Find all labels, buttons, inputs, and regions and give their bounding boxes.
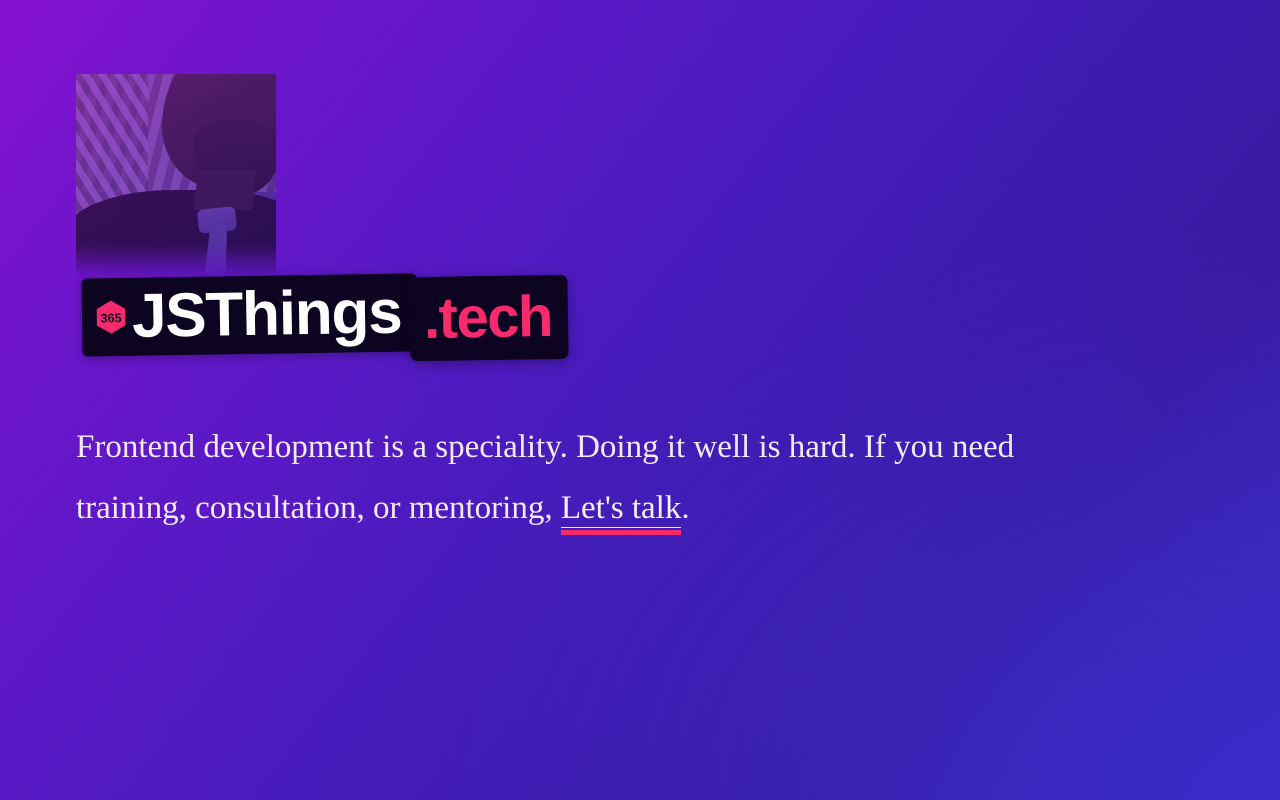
tagline-text-before: Frontend development is a speciality. Do… — [76, 429, 1014, 526]
svg-text:365: 365 — [100, 311, 121, 325]
lets-talk-link[interactable]: Let's talk — [561, 490, 682, 528]
brand-tld-text: .tech — [423, 284, 552, 351]
page-stage: 365 JSThings .tech Frontend development … — [0, 0, 1280, 800]
brand-name-box: 365 JSThings — [81, 273, 418, 356]
tagline-text-after: . — [681, 490, 689, 526]
photo-purple-overlay — [76, 74, 276, 276]
brand-name-text: JSThings — [132, 282, 402, 348]
brand-title-lockup: 365 JSThings .tech — [82, 276, 417, 354]
365-hexagon-badge-icon: 365 — [96, 300, 127, 334]
hero-tagline: Frontend development is a speciality. Do… — [76, 417, 1026, 539]
brand-tld-box: .tech — [409, 275, 568, 361]
portrait-photo — [76, 74, 276, 276]
main-navigation: 365 blog talks career let's talk — [1070, 0, 1280, 520]
